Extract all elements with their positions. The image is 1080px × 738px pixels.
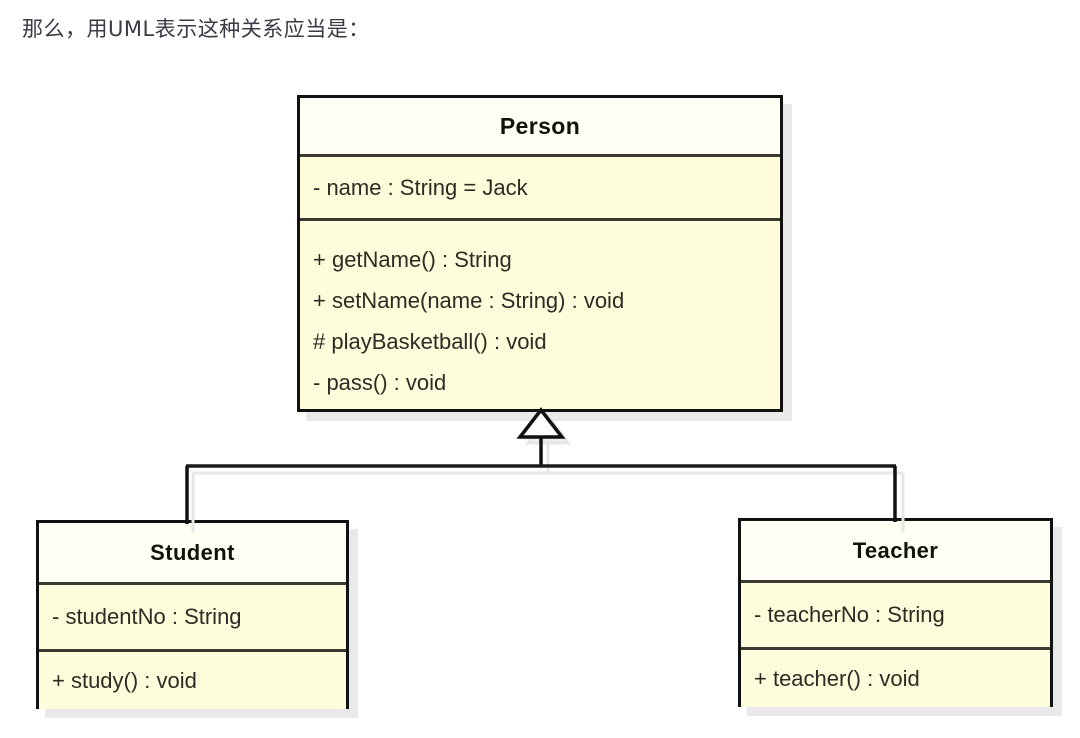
operations-compartment-student: + study() : void	[39, 652, 346, 709]
attribute-row: - studentNo : String	[39, 586, 346, 648]
operations-compartment-person: + getName() : String + setName(name : St…	[300, 221, 780, 409]
operation-row: + study() : void	[39, 654, 346, 708]
diagram-caption: 那么，用UML表示这种关系应当是：	[22, 13, 370, 43]
attribute-row: - teacherNo : String	[741, 584, 1050, 646]
operation-row: - pass() : void	[300, 362, 780, 403]
uml-class-teacher[interactable]: Teacher - teacherNo : String + teacher()…	[738, 518, 1053, 707]
attributes-compartment-student: - studentNo : String	[39, 585, 346, 652]
attribute-row: - name : String = Jack	[300, 159, 780, 217]
attributes-compartment-teacher: - teacherNo : String	[741, 583, 1050, 650]
operation-row: + getName() : String	[300, 239, 780, 280]
generalization-arrowhead	[520, 410, 562, 437]
class-name-student: Student	[39, 523, 346, 585]
operation-row: + setName(name : String) : void	[300, 280, 780, 321]
class-name-person: Person	[300, 98, 780, 157]
operation-row: # playBasketball() : void	[300, 321, 780, 362]
operation-row: + teacher() : void	[741, 652, 1050, 706]
uml-class-person[interactable]: Person - name : String = Jack + getName(…	[297, 95, 783, 412]
operations-compartment-teacher: + teacher() : void	[741, 650, 1050, 707]
class-name-teacher: Teacher	[741, 521, 1050, 583]
uml-class-student[interactable]: Student - studentNo : String + study() :…	[36, 520, 349, 709]
attributes-compartment-person: - name : String = Jack	[300, 157, 780, 221]
